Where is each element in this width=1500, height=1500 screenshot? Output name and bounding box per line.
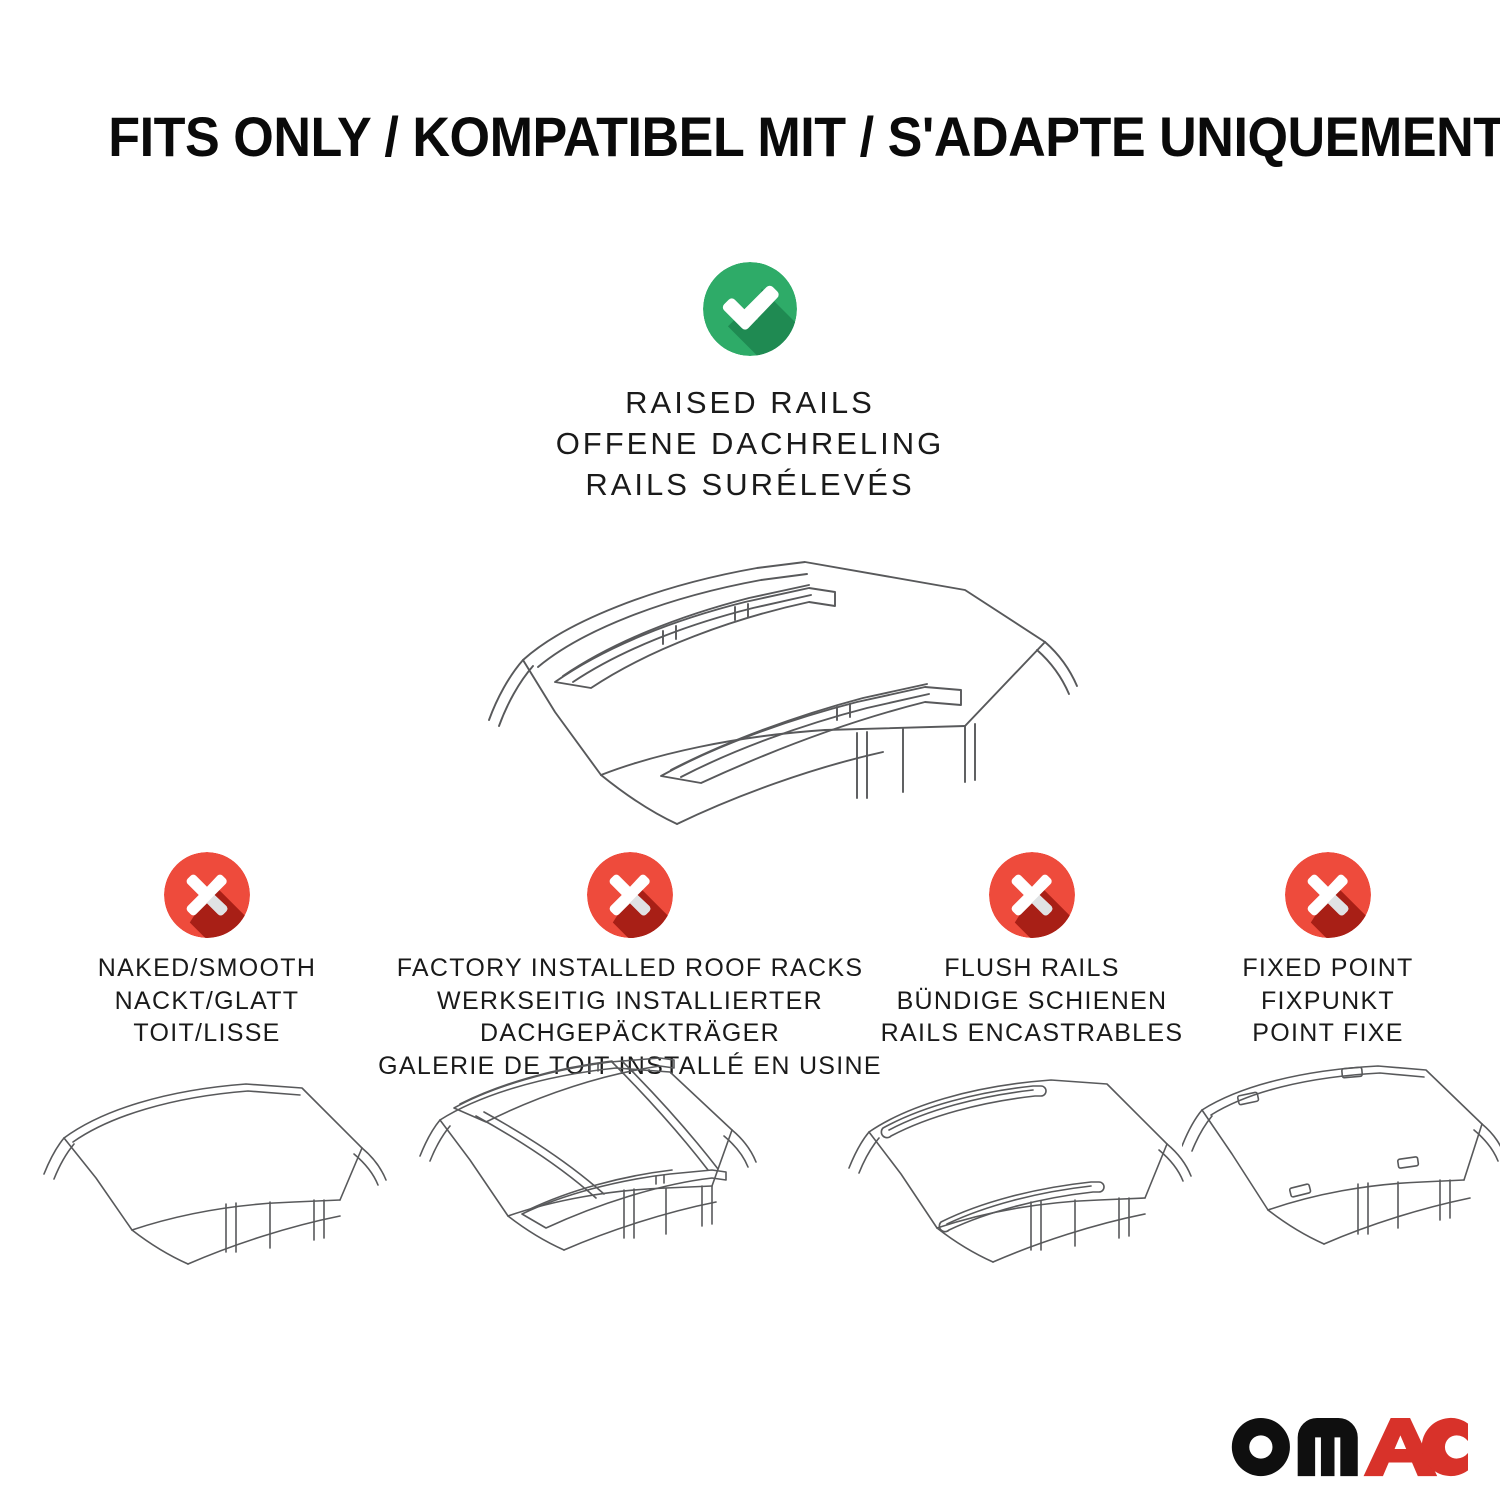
compatibility-infographic: FITS ONLY / KOMPATIBEL MIT / S'ADAPTE UN…: [0, 0, 1500, 1500]
cross-circle-icon: [587, 852, 673, 938]
car-roof-naked-illustration: [40, 1062, 410, 1277]
car-roof-raised-rails-illustration: [405, 530, 1095, 830]
label-line-fr: TOIT/LISSE: [98, 1017, 316, 1050]
incompatible-labels-naked: NAKED/SMOOTH NACKT/GLATT TOIT/LISSE: [98, 952, 316, 1050]
incompatible-item-flush-rails: FLUSH RAILS BÜNDIGE SCHIENEN RAILS ENCAS…: [862, 852, 1202, 1050]
omac-logo: [1226, 1416, 1468, 1478]
label-line-fr: RAILS ENCASTRABLES: [881, 1017, 1184, 1050]
page-title: FITS ONLY / KOMPATIBEL MIT / S'ADAPTE UN…: [0, 108, 1500, 167]
incompatible-item-factory-racks: FACTORY INSTALLED ROOF RACKS WERKSEITIG …: [400, 852, 860, 1082]
car-roof-factory-racks-illustration: [412, 1056, 782, 1278]
label-line-en: FIXED POINT: [1242, 952, 1413, 985]
label-line-fr: POINT FIXE: [1242, 1017, 1413, 1050]
cross-circle-icon: [1285, 852, 1371, 938]
cross-circle-icon: [164, 852, 250, 938]
label-line-en: NAKED/SMOOTH: [98, 952, 316, 985]
check-circle-icon: [703, 262, 797, 356]
compatible-label-de: OFFENE DACHRELING: [556, 423, 945, 464]
label-line-de-2: DACHGEPÄCKTRÄGER: [378, 1017, 882, 1050]
incompatible-labels-flush-rails: FLUSH RAILS BÜNDIGE SCHIENEN RAILS ENCAS…: [881, 952, 1184, 1050]
incompatible-item-fixed-point: FIXED POINT FIXPUNKT POINT FIXE: [1196, 852, 1460, 1050]
incompatible-item-naked: NAKED/SMOOTH NACKT/GLATT TOIT/LISSE: [22, 852, 392, 1050]
compatible-label-fr: RAILS SURÉLEVÉS: [556, 464, 945, 505]
car-roof-fixed-point-illustration: [1182, 1058, 1500, 1276]
label-line-en: FACTORY INSTALLED ROOF RACKS: [378, 952, 882, 985]
cross-circle-icon: [989, 852, 1075, 938]
label-line-de-1: WERKSEITIG INSTALLIERTER: [378, 985, 882, 1018]
check-circle-glyph: [703, 262, 797, 356]
car-roof-flush-rails-illustration: [845, 1062, 1215, 1277]
compatible-labels: RAISED RAILS OFFENE DACHRELING RAILS SUR…: [556, 382, 945, 506]
label-line-en: FLUSH RAILS: [881, 952, 1184, 985]
label-line-de: FIXPUNKT: [1242, 985, 1413, 1018]
label-line-de: BÜNDIGE SCHIENEN: [881, 985, 1184, 1018]
page-title-text: FITS ONLY / KOMPATIBEL MIT / S'ADAPTE UN…: [108, 108, 1391, 167]
label-line-de: NACKT/GLATT: [98, 985, 316, 1018]
compatible-section: RAISED RAILS OFFENE DACHRELING RAILS SUR…: [0, 262, 1500, 830]
compatible-label-en: RAISED RAILS: [556, 382, 945, 423]
incompatible-labels-fixed-point: FIXED POINT FIXPUNKT POINT FIXE: [1242, 952, 1413, 1050]
